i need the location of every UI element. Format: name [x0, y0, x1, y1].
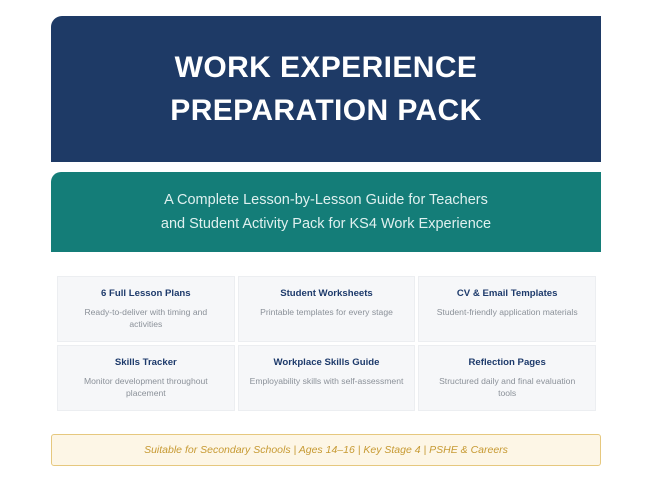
- poster-page: WORK EXPERIENCE PREPARATION PACK A Compl…: [0, 0, 652, 489]
- feature-card: CV & Email Templates Student-friendly ap…: [418, 276, 596, 342]
- feature-card-description: Student-friendly application materials: [437, 306, 578, 318]
- feature-card: Student Worksheets Printable templates f…: [238, 276, 416, 342]
- feature-grid: 6 Full Lesson Plans Ready-to-deliver wit…: [57, 276, 596, 411]
- feature-card-title: 6 Full Lesson Plans: [101, 287, 191, 300]
- feature-card: Workplace Skills Guide Employability ski…: [238, 345, 416, 411]
- feature-card-description: Monitor development throughout placement: [68, 375, 224, 399]
- audience-text: Suitable for Secondary Schools | Ages 14…: [144, 443, 508, 457]
- feature-card: Skills Tracker Monitor development throu…: [57, 345, 235, 411]
- feature-card-title: CV & Email Templates: [457, 287, 558, 300]
- feature-card-title: Workplace Skills Guide: [274, 356, 380, 369]
- feature-card-description: Structured daily and final evaluation to…: [429, 375, 585, 399]
- page-title-line-1: WORK EXPERIENCE: [175, 46, 478, 89]
- feature-card: Reflection Pages Structured daily and fi…: [418, 345, 596, 411]
- page-title-line-2: PREPARATION PACK: [170, 89, 481, 132]
- feature-card-description: Printable templates for every stage: [260, 306, 393, 318]
- feature-card-description: Employability skills with self-assessmen…: [250, 375, 404, 387]
- subtitle-banner: A Complete Lesson-by-Lesson Guide for Te…: [51, 172, 601, 252]
- feature-card-description: Ready-to-deliver with timing and activit…: [68, 306, 224, 330]
- feature-card-title: Student Worksheets: [280, 287, 373, 300]
- subtitle-line-2: and Student Activity Pack for KS4 Work E…: [161, 212, 491, 236]
- feature-card-title: Skills Tracker: [115, 356, 177, 369]
- subtitle-line-1: A Complete Lesson-by-Lesson Guide for Te…: [164, 188, 488, 212]
- feature-card: 6 Full Lesson Plans Ready-to-deliver wit…: [57, 276, 235, 342]
- feature-card-title: Reflection Pages: [469, 356, 546, 369]
- title-banner: WORK EXPERIENCE PREPARATION PACK: [51, 16, 601, 162]
- audience-banner: Suitable for Secondary Schools | Ages 14…: [51, 434, 601, 466]
